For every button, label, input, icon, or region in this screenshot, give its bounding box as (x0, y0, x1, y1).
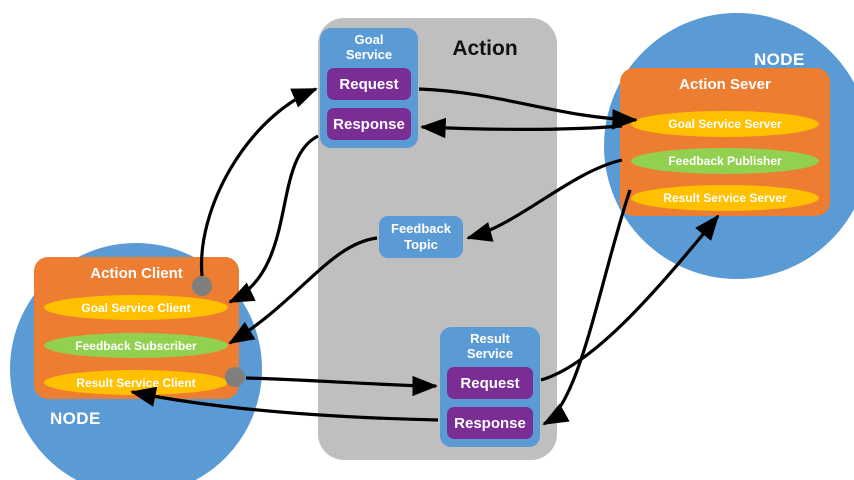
result-client-connector-dot (225, 367, 245, 387)
result-service-box: Result Service Request Response (440, 327, 540, 447)
feedback-topic-line1: Feedback (391, 221, 451, 236)
action-server-title: Action Sever (620, 76, 830, 93)
action-panel-title: Action (420, 37, 550, 61)
goal-service-title-line1: Goal (355, 32, 384, 47)
feedback-subscriber-pill[interactable]: Feedback Subscriber (44, 333, 228, 358)
server-node-label: NODE (754, 50, 805, 70)
goal-client-connector-dot (192, 276, 212, 296)
diagram-canvas: Action NODE Action Sever Goal Service Se… (0, 0, 854, 480)
result-service-request[interactable]: Request (447, 367, 533, 399)
result-service-response[interactable]: Response (447, 407, 533, 439)
result-service-title-line2: Service (467, 346, 513, 361)
client-node-label: NODE (50, 409, 101, 429)
arrow-goal-response-to-client (230, 136, 318, 302)
result-service-title-line1: Result (470, 331, 510, 346)
arrow-goal-client-to-request (202, 89, 316, 276)
goal-service-request[interactable]: Request (327, 68, 411, 100)
goal-service-title: Goal Service (320, 33, 418, 63)
goal-service-box: Goal Service Request Response (320, 28, 418, 148)
result-service-client-pill[interactable]: Result Service Client (44, 370, 228, 395)
feedback-topic-box[interactable]: Feedback Topic (379, 216, 463, 258)
feedback-topic-label: Feedback Topic (391, 221, 451, 252)
feedback-publisher-pill[interactable]: Feedback Publisher (631, 148, 819, 174)
feedback-topic-line2: Topic (404, 237, 438, 252)
action-server-box: Action Sever Goal Service Server Feedbac… (620, 68, 830, 216)
goal-service-client-pill[interactable]: Goal Service Client (44, 295, 228, 320)
result-service-server-pill[interactable]: Result Service Server (631, 185, 819, 211)
goal-service-response[interactable]: Response (327, 108, 411, 140)
goal-service-server-pill[interactable]: Goal Service Server (631, 111, 819, 137)
goal-service-title-line2: Service (346, 47, 392, 62)
result-service-title: Result Service (440, 332, 540, 362)
